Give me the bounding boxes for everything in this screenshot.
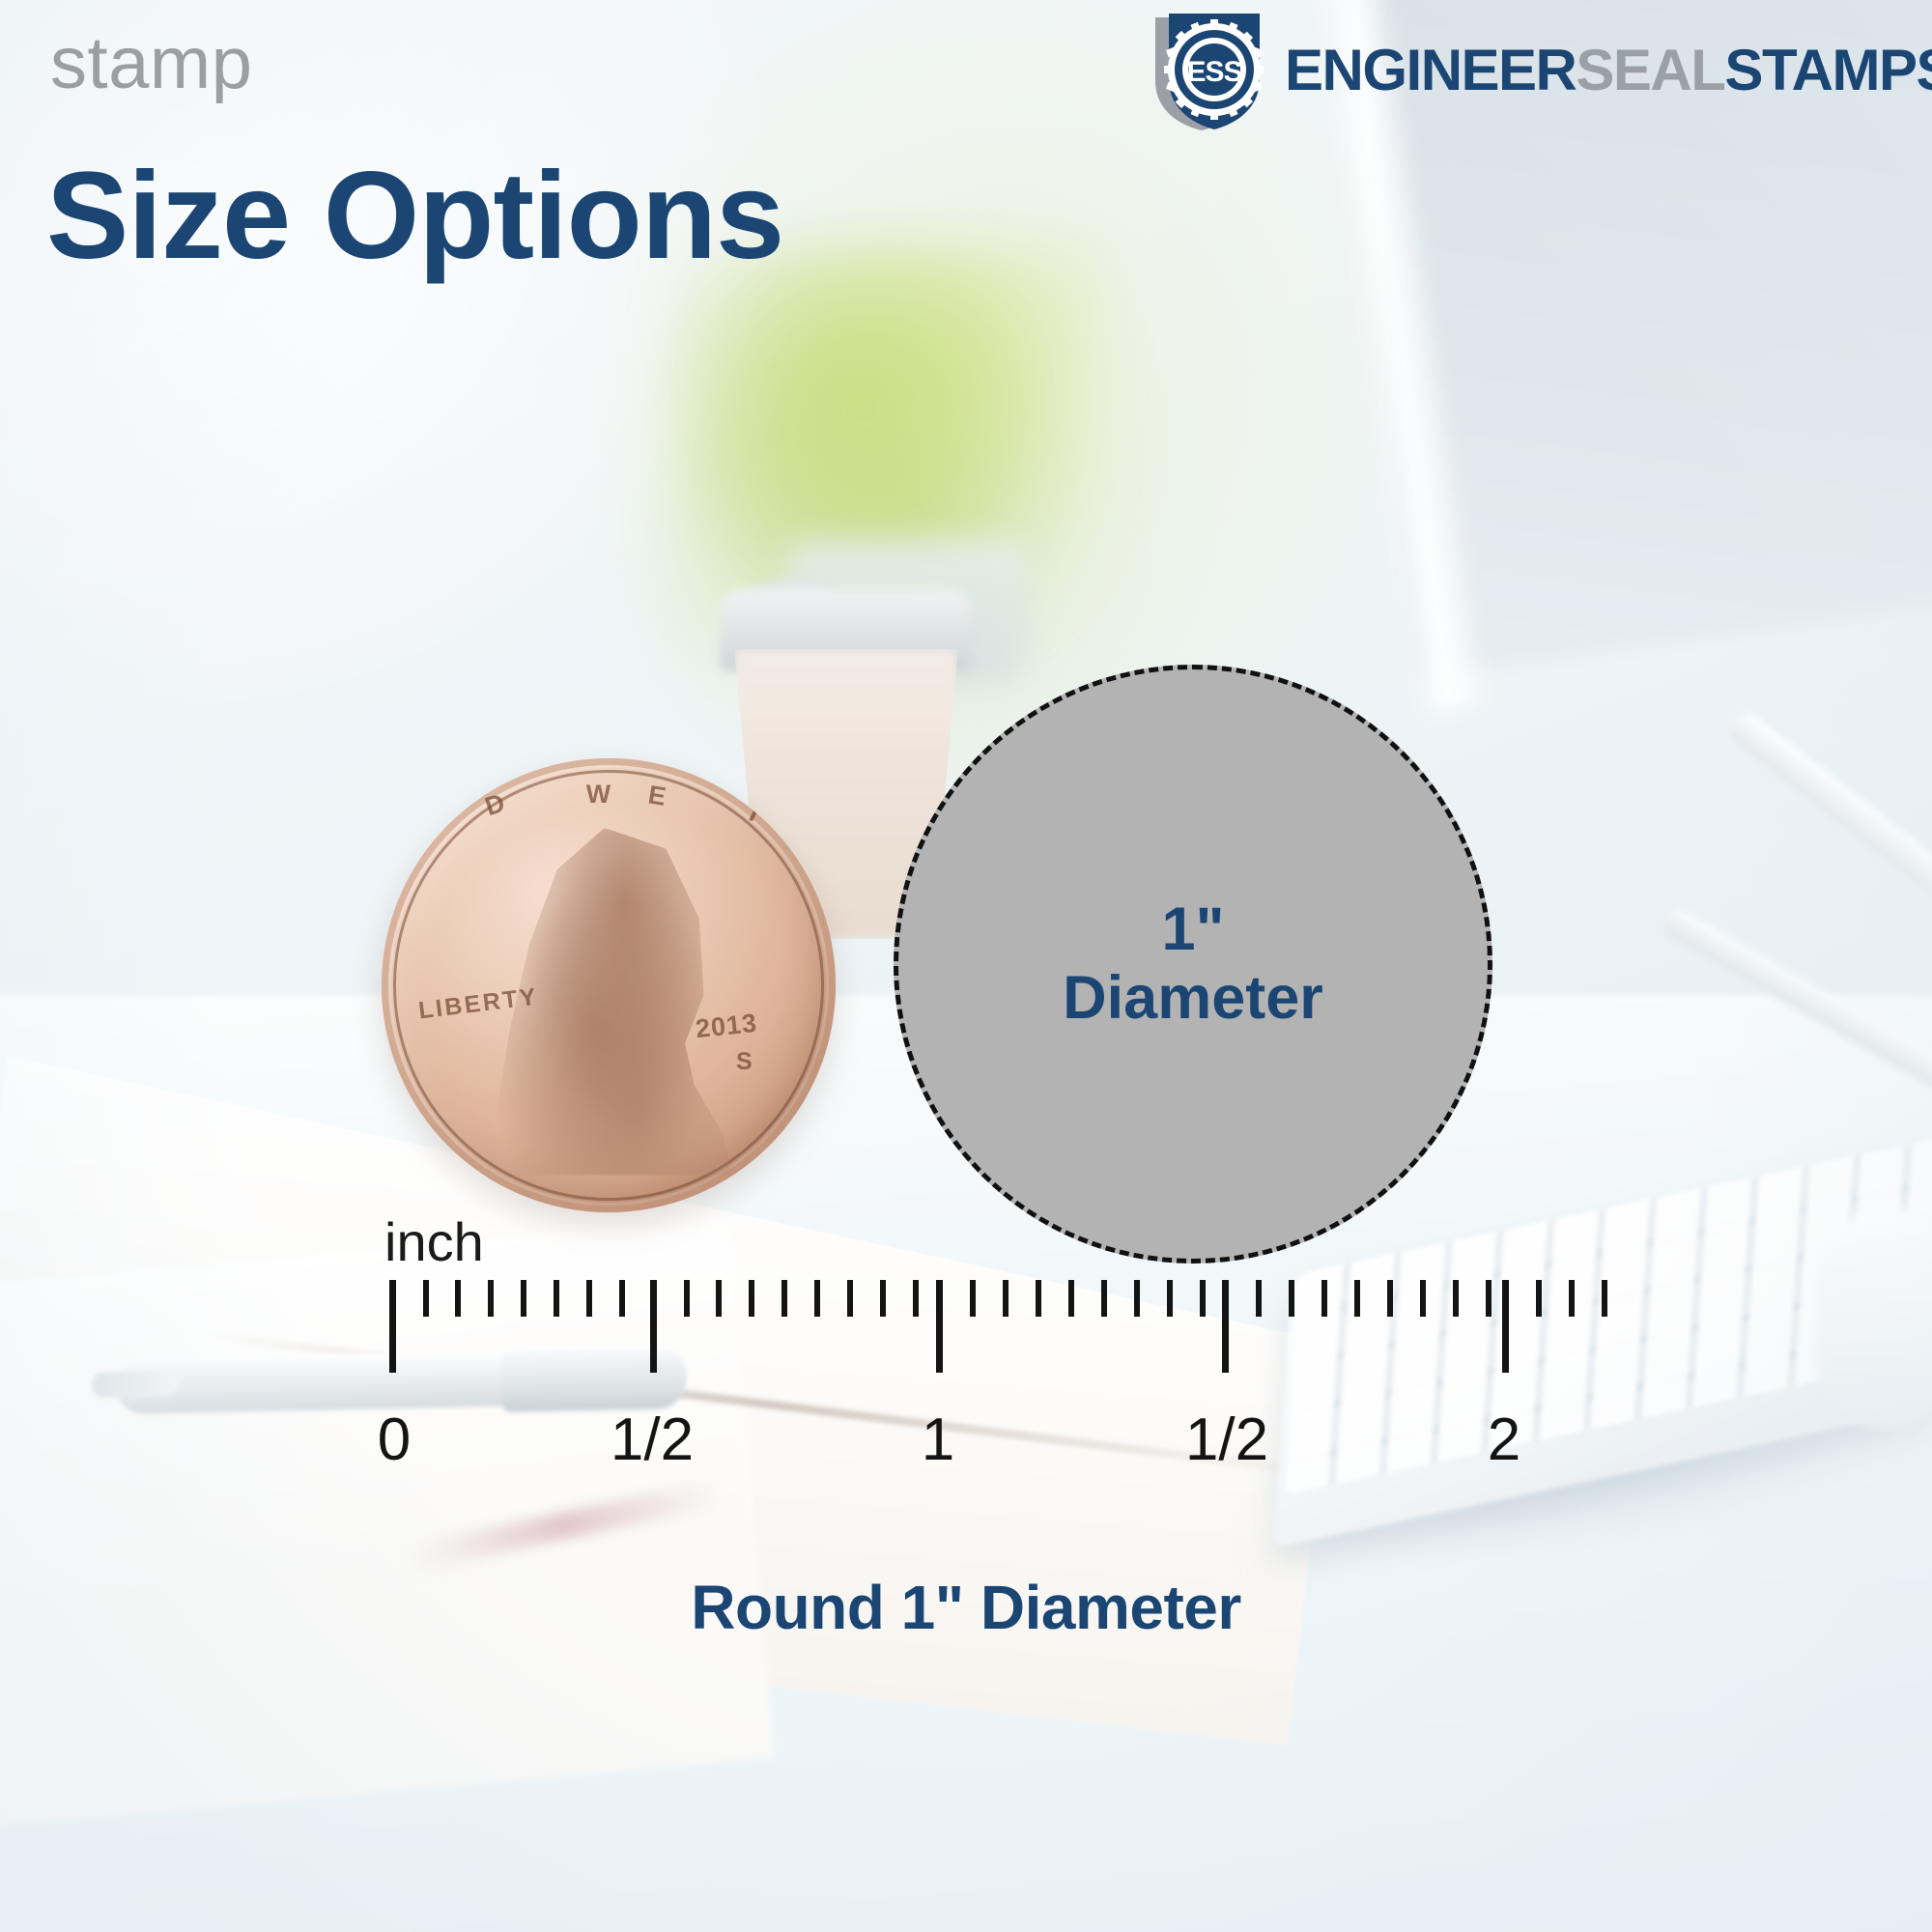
- ruler-tick-minor: [749, 1280, 754, 1317]
- ruler-tick-minor: [970, 1280, 976, 1317]
- ruler-tick-minor: [847, 1280, 853, 1317]
- ruler-tick-minor: [619, 1280, 625, 1317]
- ruler-tick-minor: [1036, 1280, 1041, 1317]
- ruler-tick-major: [389, 1280, 396, 1373]
- ruler-tick-minor: [716, 1280, 722, 1317]
- ruler-tick-minor: [814, 1280, 820, 1317]
- ruler-tick-major: [650, 1280, 657, 1373]
- ruler-tick-major: [936, 1280, 943, 1373]
- ruler-tick-minor: [1387, 1280, 1393, 1317]
- ruler-tick-minor: [684, 1280, 690, 1317]
- ruler-tick-minor: [1200, 1280, 1206, 1317]
- ruler-tick-minor: [1289, 1280, 1294, 1317]
- ruler-tick-minor: [455, 1280, 461, 1317]
- ruler-unit-label: inch: [384, 1210, 484, 1273]
- ruler-tick-minor: [1321, 1280, 1327, 1317]
- ruler-tick-minor: [781, 1280, 787, 1317]
- ruler-tick-minor: [1486, 1280, 1492, 1317]
- ruler-tick-minor: [1569, 1280, 1575, 1317]
- ruler-tick-minor: [554, 1280, 559, 1317]
- ruler-tick-minor: [1420, 1280, 1426, 1317]
- ruler-label: 1: [922, 1406, 954, 1474]
- ruler-tick-minor: [880, 1280, 886, 1317]
- ruler-tick-minor: [1453, 1280, 1459, 1317]
- ruler-tick-minor: [913, 1280, 919, 1317]
- ruler-tick-major: [1502, 1280, 1509, 1373]
- size-options-graphic: stamp Size Options: [0, 0, 1932, 1932]
- ruler-label: 1/2: [1185, 1406, 1268, 1474]
- ruler-tick-minor: [586, 1280, 592, 1317]
- ruler-tick-minor: [1003, 1280, 1009, 1317]
- ruler-label: 0: [378, 1406, 411, 1474]
- ruler-tick-minor: [423, 1280, 429, 1317]
- ruler-tick-minor: [1101, 1280, 1107, 1317]
- ruler-tick-major: [1222, 1280, 1229, 1373]
- ruler-label: 1/2: [611, 1406, 694, 1474]
- ruler-label: 2: [1488, 1406, 1520, 1474]
- ruler-tick-minor: [1536, 1280, 1542, 1317]
- ruler-tick-minor: [521, 1280, 526, 1317]
- ruler-tick-minor: [1354, 1280, 1360, 1317]
- ruler-tick-minor: [1167, 1280, 1173, 1317]
- size-caption: Round 1" Diameter: [0, 1572, 1932, 1643]
- ruler-tick-minor: [488, 1280, 494, 1317]
- ruler-tick-minor: [1134, 1280, 1140, 1317]
- ruler-tick-minor: [1602, 1280, 1607, 1317]
- ruler-tick-minor: [1068, 1280, 1074, 1317]
- ruler-tick-minor: [1256, 1280, 1262, 1317]
